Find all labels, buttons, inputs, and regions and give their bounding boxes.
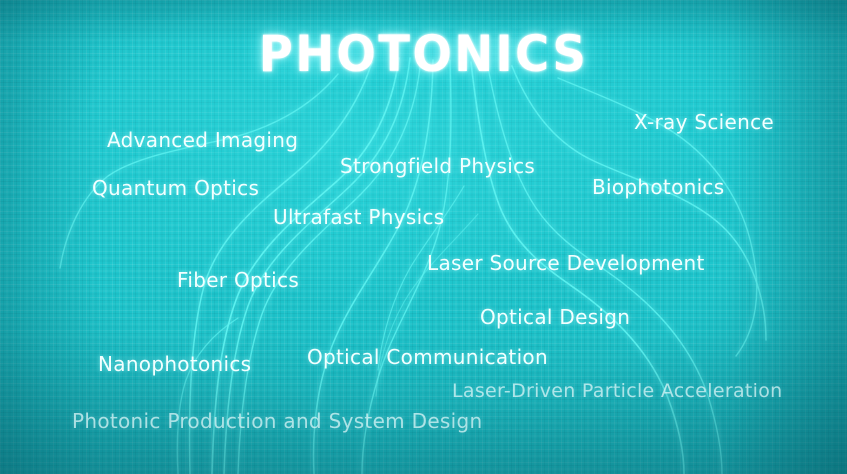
page-title: PHOTONICS bbox=[30, 25, 818, 83]
topic-label-advanced-imaging: Advanced Imaging bbox=[107, 128, 298, 152]
topic-label-optical-communication: Optical Communication bbox=[307, 345, 548, 369]
ribbon-10 bbox=[512, 66, 766, 340]
topic-label-biophotonics: Biophotonics bbox=[592, 175, 724, 199]
topic-label-laser-driven-particle-acceleration: Laser-Driven Particle Acceleration bbox=[452, 380, 783, 402]
topic-label-optical-design: Optical Design bbox=[480, 305, 630, 329]
topic-label-nanophotonics: Nanophotonics bbox=[98, 352, 251, 376]
ribbon-13 bbox=[177, 318, 238, 474]
topic-label-laser-source-development: Laser Source Development bbox=[427, 251, 705, 275]
topic-label-quantum-optics: Quantum Optics bbox=[92, 176, 259, 200]
ribbon-5 bbox=[60, 74, 338, 268]
topic-label-photonic-production-and-system-design: Photonic Production and System Design bbox=[72, 409, 482, 433]
photonics-infographic: PHOTONICS Advanced ImagingX-ray ScienceQ… bbox=[0, 0, 847, 474]
topic-label-ultrafast-physics: Ultrafast Physics bbox=[273, 205, 445, 229]
topic-label-x-ray-science: X-ray Science bbox=[634, 110, 774, 134]
topic-label-fiber-optics: Fiber Optics bbox=[177, 268, 299, 292]
topic-label-strongfield-physics: Strongfield Physics bbox=[340, 154, 535, 178]
